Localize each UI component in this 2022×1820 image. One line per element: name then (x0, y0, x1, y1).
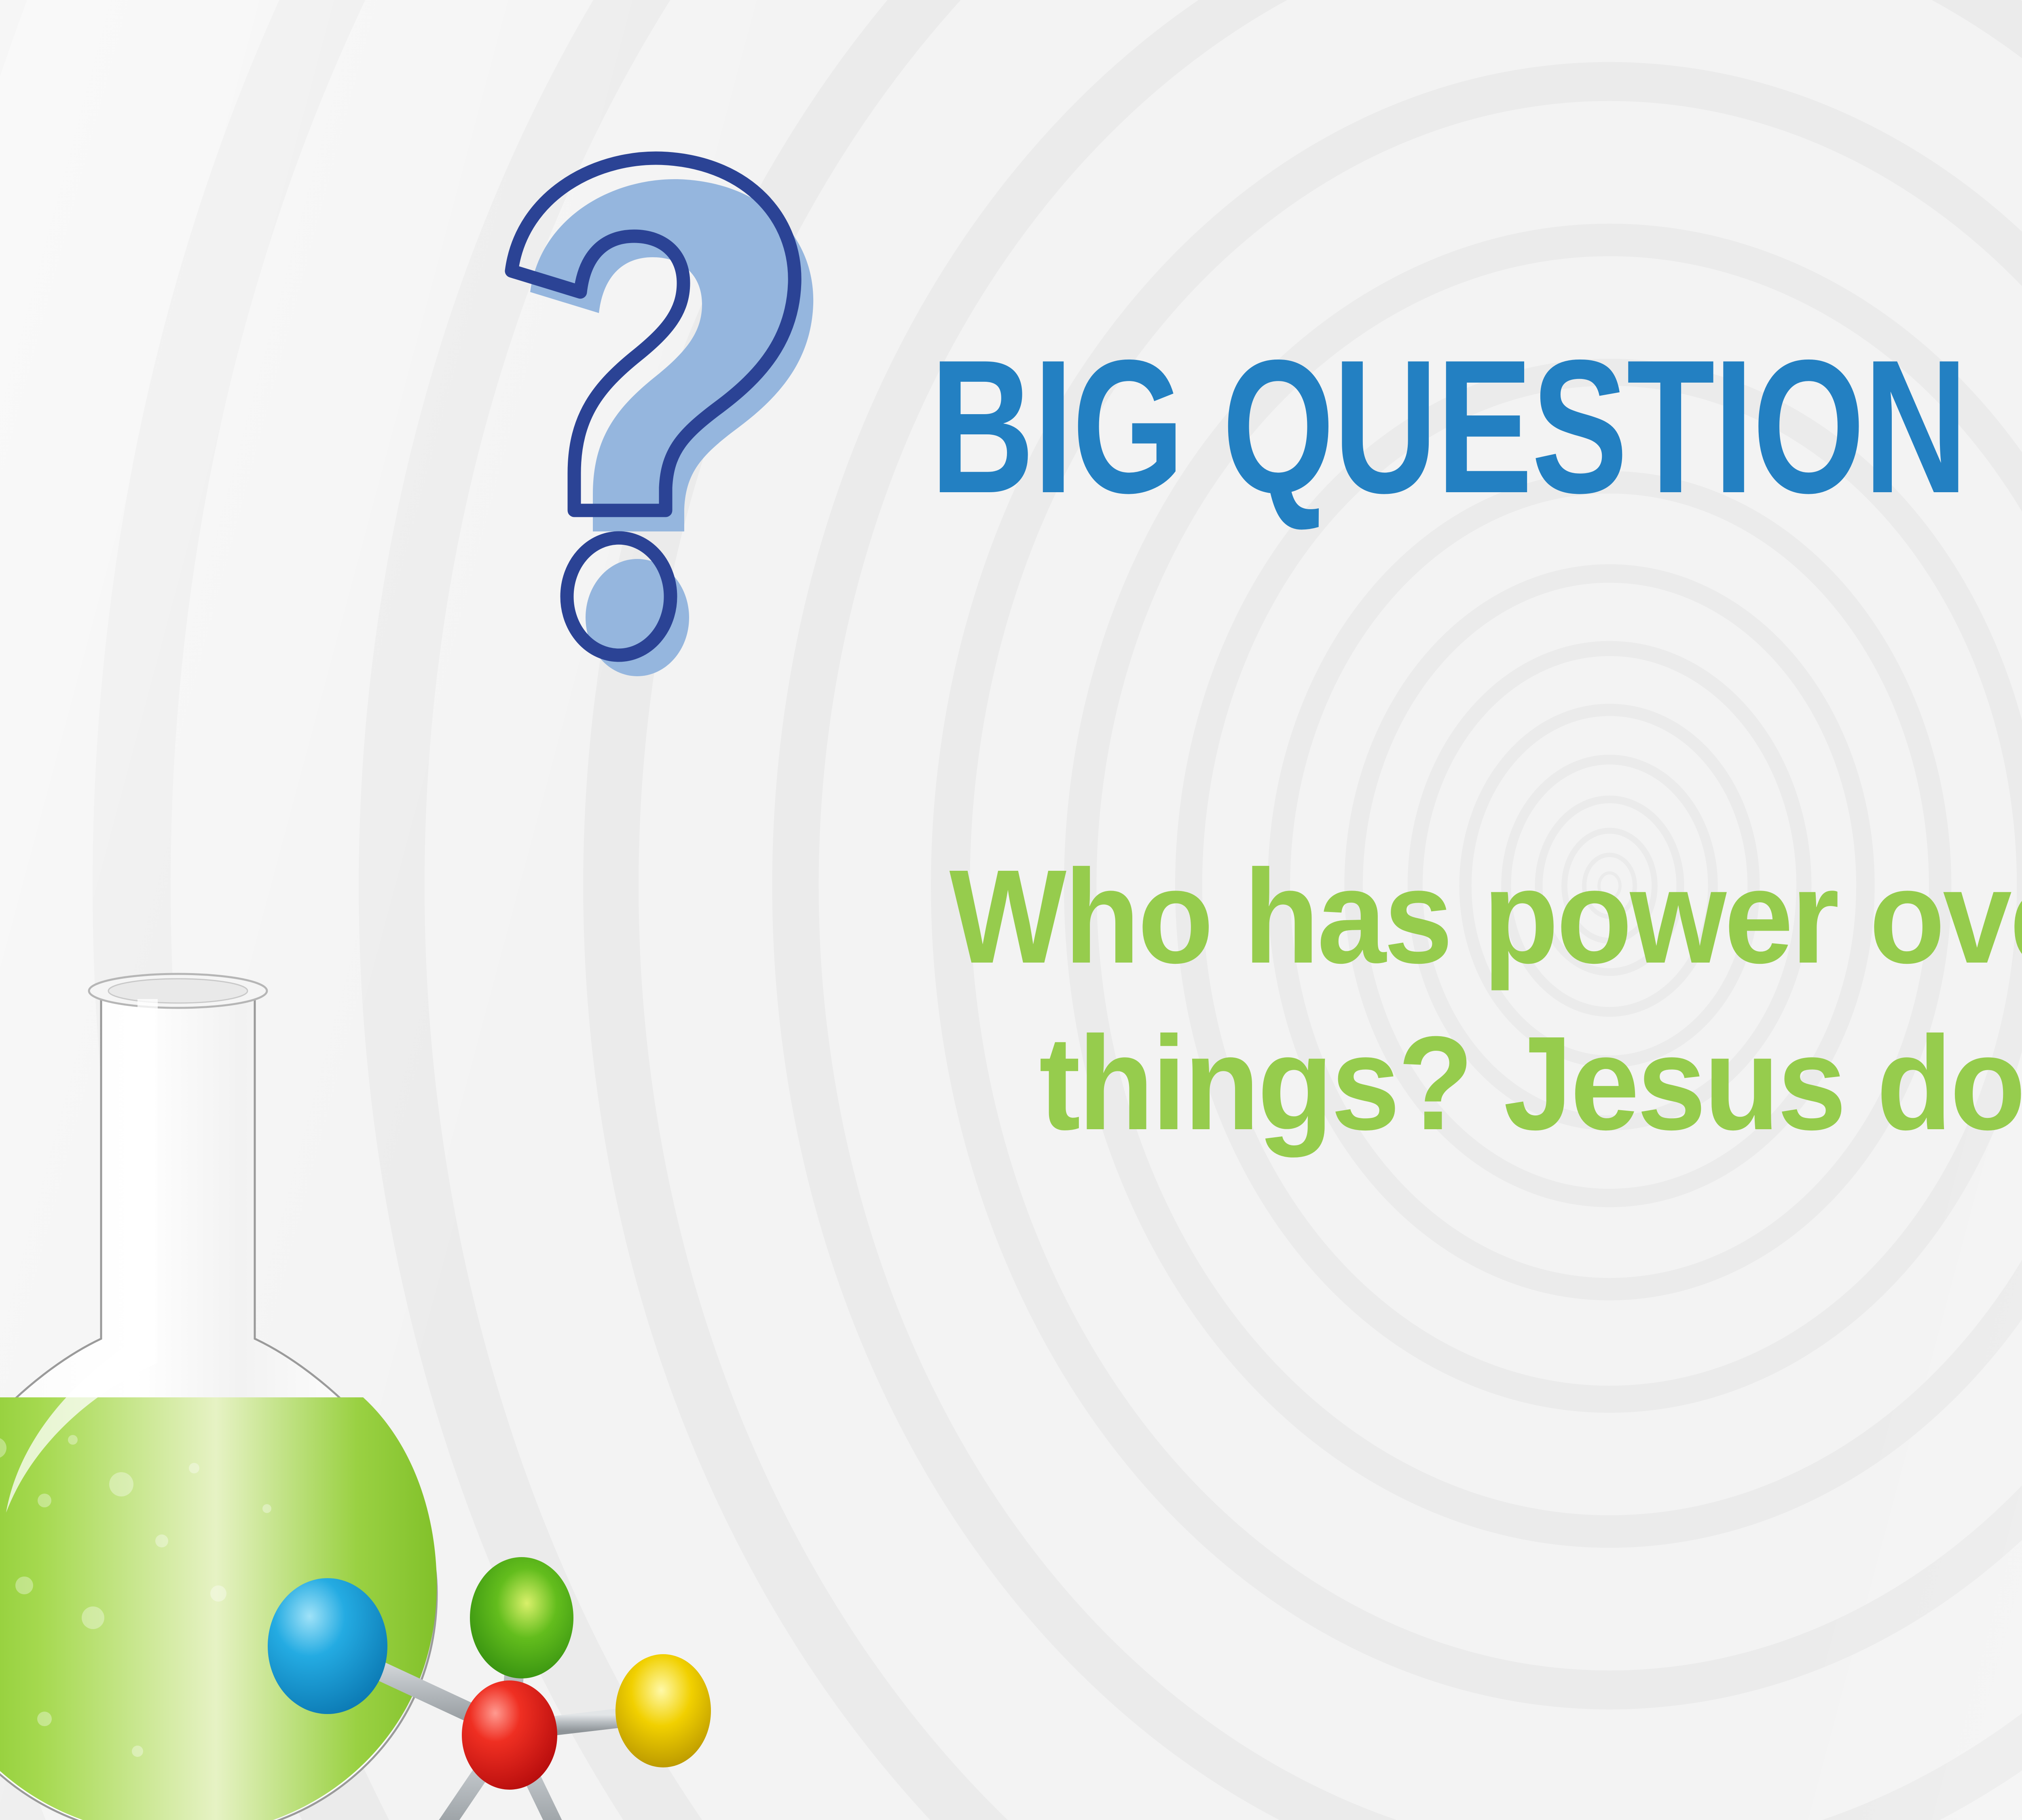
banner-canvas: BIG QUESTION Who has power over all thin… (0, 0, 2022, 1820)
atom-center-red (462, 1680, 557, 1790)
eyebrow-title: BIG QUESTION (930, 332, 2022, 558)
atom-yellow (615, 1654, 711, 1767)
atom-blue (268, 1578, 387, 1714)
question-mark-icon (441, 150, 926, 797)
molecule-model (259, 1488, 785, 1820)
atom-green (470, 1557, 573, 1678)
